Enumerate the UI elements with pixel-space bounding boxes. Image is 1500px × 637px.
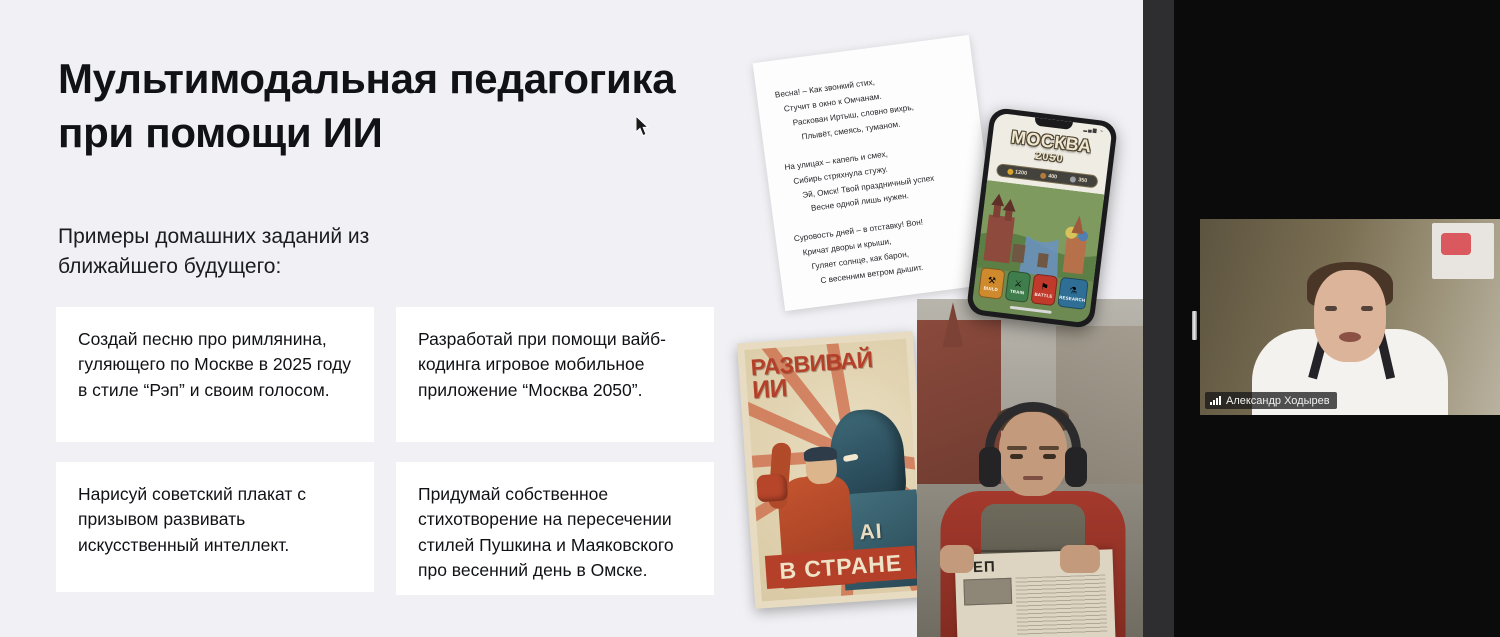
newspaper-text-lines — [1016, 575, 1108, 636]
stone-resource-value: 350 — [1078, 177, 1088, 184]
poster-footer-text: В СТРАНЕ — [779, 550, 904, 586]
gold-resource-icon — [1007, 168, 1014, 175]
poster-artwork: AI РАЗВИВАЙ ИИ В СТРАНЕ — [744, 339, 923, 602]
participant-eye-left — [1325, 306, 1337, 311]
stone-resource-icon — [1070, 176, 1077, 183]
signal-bars-icon — [1210, 396, 1221, 405]
game-city-map — [976, 180, 1104, 282]
hammer-wrench-icon: ⚒ — [987, 275, 996, 285]
task-card-text: Придумай собственное стихотворение на пе… — [418, 482, 692, 584]
photo-mouth — [1023, 476, 1043, 480]
participant-name-badge: Александр Ходырев — [1205, 392, 1337, 409]
task-card-text: Нарисуй советский плакат с призывом разв… — [78, 482, 352, 558]
slide-subtitle: Примеры домашних заданий из ближайшего б… — [58, 222, 478, 282]
phone-notch — [1034, 117, 1073, 130]
phone-home-indicator — [1010, 306, 1052, 314]
battle-button[interactable]: ⚑ BATTLE — [1031, 273, 1058, 306]
phone-status-bar-icons: ▂▄▆ ⌁ — [1083, 126, 1104, 134]
participant-name: Александр Ходырев — [1226, 395, 1330, 407]
robot-eye — [843, 453, 859, 462]
build-button-label: BUILD — [983, 285, 998, 292]
soviet-poster-image: AI РАЗВИВАЙ ИИ В СТРАНЕ — [737, 331, 931, 609]
wood-resource-icon — [1040, 172, 1047, 179]
task-card-text: Создай песню про римлянина, гуляющего по… — [78, 327, 352, 403]
gold-resource-value: 1200 — [1015, 169, 1028, 176]
stone-resource: 350 — [1070, 176, 1088, 184]
video-tile-drag-handle[interactable] — [1192, 311, 1197, 340]
arrow-cursor — [636, 116, 652, 143]
video-background-wall-poster — [1432, 223, 1494, 279]
phone-body: ▂▄▆ ⌁ МОСКВА 2050 1200 400 — [966, 107, 1118, 329]
kremlin-illustration — [976, 180, 1104, 282]
poem-stanza: Суровость дней – в отставку! Вон! Кричат… — [793, 209, 985, 292]
flag-icon: ⚑ — [1040, 282, 1049, 292]
headphone-cup-left — [979, 447, 1001, 487]
photo-hand-left — [940, 545, 974, 573]
newspaper-photo — [964, 578, 1013, 606]
worker-head — [804, 449, 837, 485]
research-button[interactable]: ⚗ RESEARCH — [1057, 277, 1089, 310]
task-card-text: Разработай при помощи вайб-кодинга игров… — [418, 327, 692, 403]
train-button[interactable]: ⚔ TRAIN — [1004, 270, 1031, 303]
participant-eye-right — [1361, 306, 1373, 311]
presentation-slide[interactable]: Мультимодальная педагогика при помощи ИИ… — [0, 0, 1143, 637]
task-card: Придумай собственное стихотворение на пе… — [396, 462, 714, 595]
task-card: Создай песню про римлянина, гуляющего по… — [56, 307, 374, 442]
worker-hair — [803, 446, 837, 462]
slide-gutter — [1142, 0, 1174, 637]
roman-legionary-photo: РЕП — [917, 299, 1143, 637]
participant-mouth — [1339, 332, 1361, 342]
research-button-label: RESEARCH — [1059, 294, 1086, 302]
poem-sheet-image: Весна! – Как звонкий стих, Стучит в окно… — [753, 35, 1002, 311]
video-participant-tile[interactable]: Александр Ходырев — [1200, 219, 1500, 415]
screen-capture: Мультимодальная педагогика при помощи ИИ… — [0, 0, 1500, 637]
task-card: Разработай при помощи вайб-кодинга игров… — [396, 307, 714, 442]
flask-icon: ⚗ — [1069, 285, 1078, 295]
poem-stanza: Весна! – Как звонкий стих, Стучит в окно… — [774, 64, 966, 147]
page-title: Мультимодальная педагогика при помощи ИИ — [58, 52, 758, 160]
photo-hand-right — [1060, 545, 1100, 573]
robot-chest-label: AI — [859, 520, 884, 546]
wood-resource-value: 400 — [1048, 173, 1058, 180]
slide-canvas: Мультимодальная педагогика при помощи ИИ… — [6, 4, 1141, 637]
headphone-cup-right — [1065, 447, 1087, 487]
task-card: Нарисуй советский плакат с призывом разв… — [56, 462, 374, 592]
gold-resource: 1200 — [1007, 168, 1028, 176]
sword-icon: ⚔ — [1014, 279, 1023, 289]
poster-headline: РАЗВИВАЙ ИИ — [750, 348, 875, 402]
wood-resource: 400 — [1040, 172, 1058, 180]
battle-button-label: BATTLE — [1034, 291, 1053, 298]
poem-stanza: На улицах – капель и смех, Сибирь стряхн… — [784, 136, 976, 219]
raised-fist-icon — [756, 473, 788, 502]
phone-mockup-image: ▂▄▆ ⌁ МОСКВА 2050 1200 400 — [966, 107, 1118, 329]
build-button[interactable]: ⚒ BUILD — [978, 267, 1005, 300]
participant-face — [1314, 270, 1386, 362]
train-button-label: TRAIN — [1010, 288, 1025, 295]
phone-screen: ▂▄▆ ⌁ МОСКВА 2050 1200 400 — [971, 113, 1112, 324]
